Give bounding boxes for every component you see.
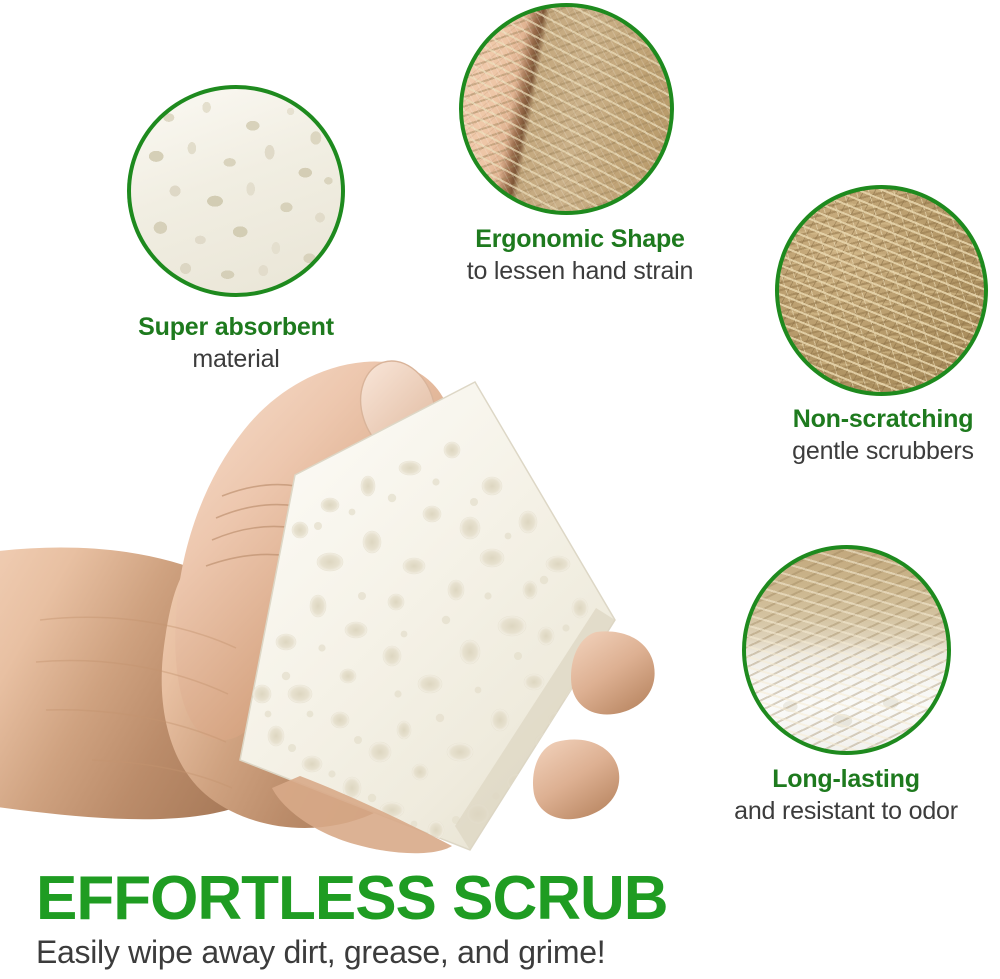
feature-subtitle-super-absorbent: material	[85, 345, 387, 374]
feature-subtitle-non-scratching: gentle scrubbers	[738, 437, 1000, 466]
feature-subtitle-long-lasting: and resistant to odor	[693, 797, 999, 826]
bottom-banner: EFFORTLESS SCRUB Easily wipe away dirt, …	[36, 867, 976, 971]
feature-image-super-absorbent	[127, 85, 345, 297]
banner-subhead: Easily wipe away dirt, grease, and grime…	[36, 935, 976, 971]
feature-label-long-lasting: Long-lasting and resistant to odor	[693, 765, 999, 826]
feature-label-ergonomic-shape: Ergonomic Shape to lessen hand strain	[420, 225, 740, 286]
feature-title-ergonomic-shape: Ergonomic Shape	[420, 225, 740, 254]
feature-image-non-scratching	[775, 185, 988, 396]
hero-product-photo	[0, 290, 660, 860]
feature-subtitle-ergonomic-shape: to lessen hand strain	[420, 257, 740, 286]
feature-title-super-absorbent: Super absorbent	[85, 313, 387, 342]
feature-image-ergonomic-shape	[459, 3, 674, 215]
product-infographic: Super absorbent material Ergonomic Shape…	[0, 0, 1000, 979]
loofah-over-sponge-texture-icon	[746, 549, 947, 751]
feature-image-long-lasting	[742, 545, 951, 755]
hand-holding-sponge-illustration	[0, 290, 660, 860]
sponge-texture-icon	[131, 89, 341, 293]
index-finger	[571, 631, 655, 714]
feature-title-non-scratching: Non-scratching	[738, 405, 1000, 434]
hand-on-fiber-texture-icon	[463, 7, 670, 211]
feature-label-super-absorbent: Super absorbent material	[85, 313, 387, 374]
middle-finger	[533, 740, 619, 820]
feature-label-non-scratching: Non-scratching gentle scrubbers	[738, 405, 1000, 466]
banner-headline: EFFORTLESS SCRUB	[36, 867, 976, 931]
loofah-fiber-texture-icon	[779, 189, 984, 392]
feature-title-long-lasting: Long-lasting	[693, 765, 999, 794]
